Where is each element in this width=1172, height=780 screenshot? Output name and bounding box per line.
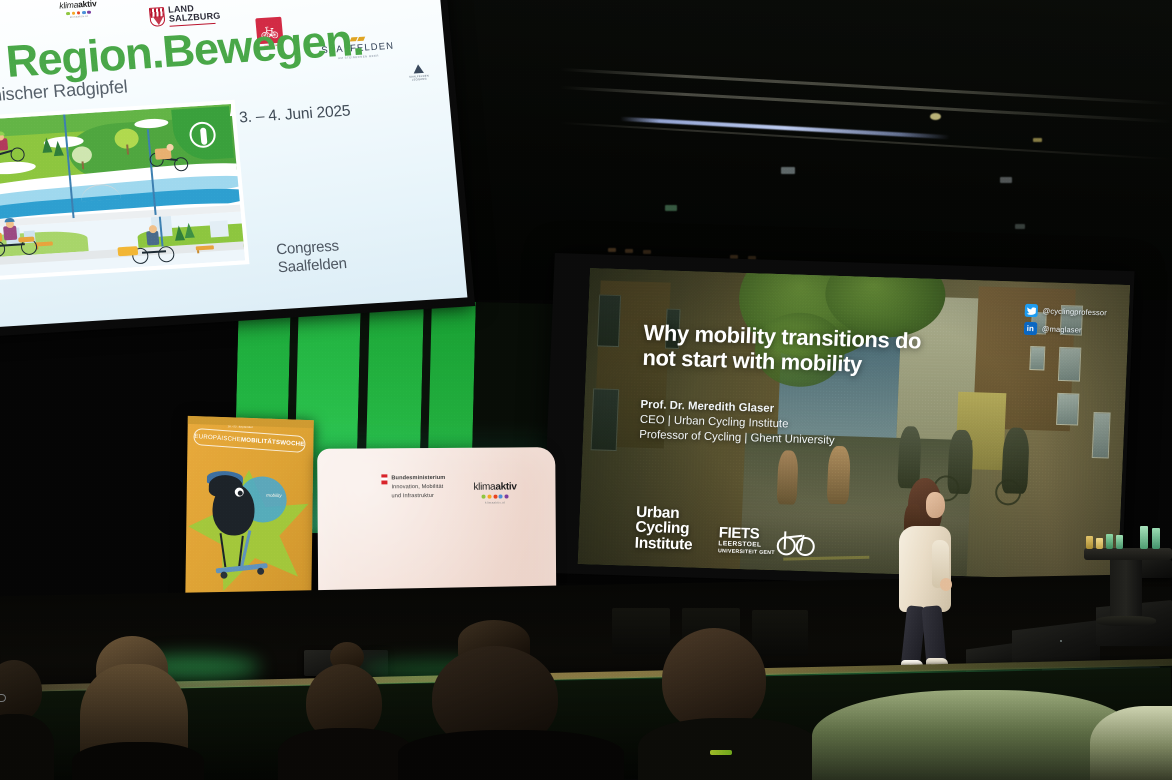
- linkedin-handle: @maglaser: [1042, 324, 1082, 334]
- drink-bottle: [1086, 536, 1093, 549]
- drink-bottle: [1106, 534, 1113, 549]
- podium-ka-bold: aktiv: [495, 481, 516, 492]
- banner-headline-light: EUROPÄISCHE: [194, 433, 241, 443]
- banner-headline-pill: EUROPÄISCHEMOBILITÄTSWOCHE: [193, 428, 306, 453]
- klimaaktiv-light: klima: [59, 0, 79, 11]
- slide-title: Why mobility transitions do not start wi…: [642, 320, 964, 380]
- left-slide-venue: Congress Saalfelden: [276, 237, 348, 278]
- shoulder: [1090, 706, 1172, 780]
- banner-dates: 16.–22. September: [228, 425, 254, 429]
- speaker-face: [926, 492, 945, 518]
- bicycle-sign-icon: [188, 121, 216, 149]
- mascot-eye: [233, 485, 246, 498]
- bicycle-wheel: [10, 147, 25, 162]
- truss-beam: [560, 122, 1171, 160]
- illus-cyclist-family: [0, 222, 38, 257]
- podium-klimaaktiv-dots: [474, 494, 517, 498]
- dot: [71, 11, 75, 15]
- drink-bottle: [1152, 528, 1160, 549]
- truss-beam: [560, 86, 1171, 123]
- illus-cyclist-mountain: [0, 135, 25, 165]
- dot: [487, 495, 491, 499]
- illus-cyclist-trailer: [116, 228, 175, 265]
- monitor-led: [1060, 640, 1062, 642]
- podium-ministry-line-2: Innovation, Mobilität: [391, 484, 443, 490]
- dot: [82, 10, 86, 14]
- illus-tree: [112, 124, 141, 156]
- banner-headline-bold: MOBILITÄTSWOCHE: [241, 436, 305, 448]
- stage-light: [608, 248, 616, 252]
- social-twitter: @cyclingprofessor: [1024, 304, 1107, 320]
- stage-light: [1015, 224, 1025, 229]
- stage-light: [643, 250, 651, 254]
- head: [662, 628, 766, 732]
- slide-logos: Urban Cycling Institute FIETS LEERSTOEL …: [634, 504, 814, 557]
- audience-member-5: [644, 600, 814, 780]
- left-slide-date: 3. – 4. Juni 2025: [238, 103, 351, 128]
- klimaaktiv-wordmark: klimaaktiv: [59, 0, 97, 11]
- venue-line-2: Saalfelden: [277, 255, 347, 278]
- audience-member-4: [398, 620, 618, 780]
- table-top: [1084, 548, 1172, 560]
- illus-rider-head: [166, 144, 174, 151]
- main-projection-screen: Why mobility transitions do not start wi…: [541, 253, 1134, 591]
- fiets-wordmark: FIETS LEERSTOEL UNIVERSITEIT GENT: [718, 526, 776, 556]
- linkedin-icon: in: [1024, 322, 1038, 335]
- speaker-hand: [940, 578, 952, 591]
- klimaaktiv-logo: klimaaktiv klimaaktiv.at: [59, 0, 98, 20]
- table-stem: [1110, 560, 1142, 622]
- klimaaktiv-bold: aktiv: [78, 0, 97, 9]
- audience-member-2: [72, 630, 202, 780]
- fiets-leerstoel-logo: FIETS LEERSTOEL UNIVERSITEIT GENT: [718, 526, 814, 557]
- audience-member-3: [282, 642, 410, 780]
- auditorium-scene: Why mobility transitions do not start wi…: [0, 0, 1172, 780]
- podium-ministry-line-3: und Infrastruktur: [392, 493, 434, 499]
- illus-trailer: [117, 246, 138, 256]
- podium-klimaaktiv-url: klimaaktiv.at: [474, 500, 517, 504]
- stage-light: [1000, 177, 1012, 183]
- torso: [72, 742, 204, 780]
- torso: [398, 730, 624, 780]
- saalfelden-leogang-line-2: LEOGANG: [409, 78, 429, 83]
- truss-beam: [560, 68, 1171, 105]
- urban-cycling-institute-logo: Urban Cycling Institute: [634, 504, 694, 553]
- podium-ministry-text: Bundesministerium Innovation, Mobilität …: [391, 474, 445, 501]
- illus-pine-tree: [53, 141, 64, 157]
- illus-building: [209, 220, 228, 237]
- bicycle-icon: [777, 529, 814, 556]
- twitter-handle: @cyclingprofessor: [1042, 306, 1107, 317]
- bicycle-wheel-rear: [777, 536, 797, 556]
- illus-pine-tree: [184, 223, 195, 239]
- illus-rider-helmet: [4, 218, 14, 223]
- presentation-slide: Why mobility transitions do not start wi…: [578, 268, 1130, 581]
- bicycle-wheel: [0, 240, 6, 257]
- drink-bottle: [1116, 535, 1123, 549]
- dot: [66, 11, 70, 15]
- podium-ministry-logo: Bundesministerium Innovation, Mobilität …: [381, 474, 445, 501]
- podium-ministry-line-1: Bundesministerium: [391, 474, 445, 483]
- bicycle-wheel: [158, 246, 175, 263]
- audience-member-6: [812, 668, 1132, 780]
- podium-klimaaktiv-logo: klimaaktiv klimaaktiv.at: [473, 481, 516, 504]
- social-handles: @cyclingprofessor in @maglaser: [1024, 304, 1108, 338]
- torso: [0, 714, 54, 780]
- illus-cargo-box: [18, 237, 34, 243]
- audience-member-7: [1090, 696, 1172, 780]
- bicycle-wheel-front: [796, 537, 816, 557]
- speaker-legs: [904, 606, 948, 668]
- head: [0, 660, 42, 722]
- illus-pine-tree: [41, 137, 52, 153]
- salzburg-coat-of-arms-icon: [149, 7, 166, 27]
- austria-flag-icon: [381, 474, 387, 484]
- banner-circle-script: mobility: [266, 493, 282, 499]
- crest-icon: ⛰: [408, 62, 429, 76]
- drink-bottle: [1140, 526, 1148, 549]
- speaker-on-stage: [888, 478, 962, 683]
- podium-ka-light: klima: [473, 482, 495, 493]
- stage-light: [930, 113, 941, 120]
- illus-tree: [70, 143, 94, 170]
- drink-glass: [1096, 538, 1103, 549]
- audience-member-1: [0, 660, 54, 780]
- stage-light: [1033, 138, 1042, 142]
- dot: [77, 11, 81, 15]
- left-slide: Bundesministerium Innovation, Mobilität …: [0, 0, 467, 329]
- stage-light: [781, 167, 795, 174]
- saalfelden-leogang-logo: ⛰ SAALFELDEN LEOGANG: [408, 62, 430, 83]
- podium-klimaaktiv-wordmark: klimaaktiv: [473, 481, 516, 492]
- dot: [481, 495, 485, 499]
- stage-light: [625, 249, 633, 253]
- slide-speaker-byline: Prof. Dr. Meredith Glaser CEO | Urban Cy…: [639, 398, 941, 453]
- shoulder: [812, 690, 1132, 780]
- dot: [87, 10, 91, 14]
- twitter-bird-icon: [1024, 304, 1038, 317]
- uci-line-3: Institute: [634, 536, 692, 554]
- torso: [638, 718, 820, 780]
- torso: [278, 728, 414, 780]
- social-linkedin: in @maglaser: [1024, 322, 1107, 338]
- illus-child: [0, 233, 2, 243]
- dot: [499, 495, 503, 499]
- cycling-illustration: [0, 104, 245, 278]
- dot: [505, 494, 509, 498]
- left-projection-screen: Bundesministerium Innovation, Mobilität …: [0, 0, 475, 339]
- stage-light: [665, 205, 677, 211]
- dot: [493, 495, 497, 499]
- lanyard-badge: [710, 750, 732, 755]
